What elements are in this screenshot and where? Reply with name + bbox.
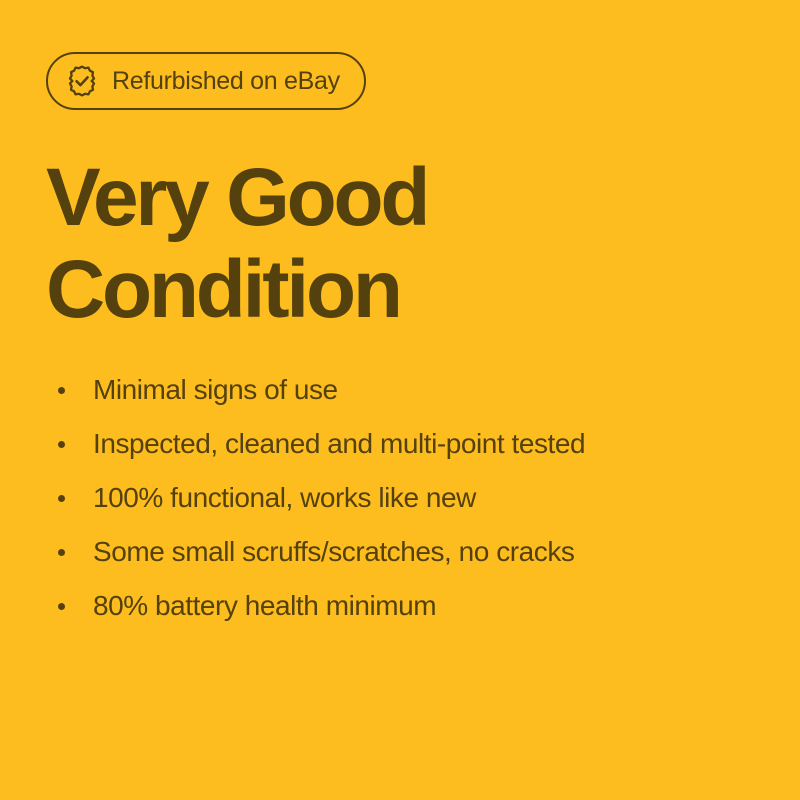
- list-item-label: 100% functional, works like new: [93, 484, 476, 512]
- bullet-dot-icon: [58, 387, 65, 394]
- condition-feature-list: Minimal signs of use Inspected, cleaned …: [52, 363, 772, 633]
- bullet-dot-icon: [58, 603, 65, 610]
- bullet-dot-icon: [58, 549, 65, 556]
- list-item: 80% battery health minimum: [52, 579, 772, 633]
- list-item-label: Inspected, cleaned and multi-point teste…: [93, 430, 585, 458]
- page-title-line-2: Condition: [46, 244, 646, 336]
- page-title: Very Good Condition: [46, 152, 646, 336]
- refurbished-badge-label: Refurbished on eBay: [112, 69, 340, 94]
- list-item-label: 80% battery health minimum: [93, 592, 436, 620]
- list-item: Some small scruffs/scratches, no cracks: [52, 525, 772, 579]
- list-item-label: Minimal signs of use: [93, 376, 338, 404]
- list-item: 100% functional, works like new: [52, 471, 772, 525]
- page-title-line-1: Very Good: [46, 152, 646, 244]
- list-item: Minimal signs of use: [52, 363, 772, 417]
- verified-seal-check-icon: [66, 65, 98, 97]
- refurbished-badge-pill: Refurbished on eBay: [46, 52, 366, 110]
- bullet-dot-icon: [58, 441, 65, 448]
- list-item-label: Some small scruffs/scratches, no cracks: [93, 538, 574, 566]
- bullet-dot-icon: [58, 495, 65, 502]
- refurbished-condition-card: Refurbished on eBay Very Good Condition …: [0, 0, 800, 800]
- list-item: Inspected, cleaned and multi-point teste…: [52, 417, 772, 471]
